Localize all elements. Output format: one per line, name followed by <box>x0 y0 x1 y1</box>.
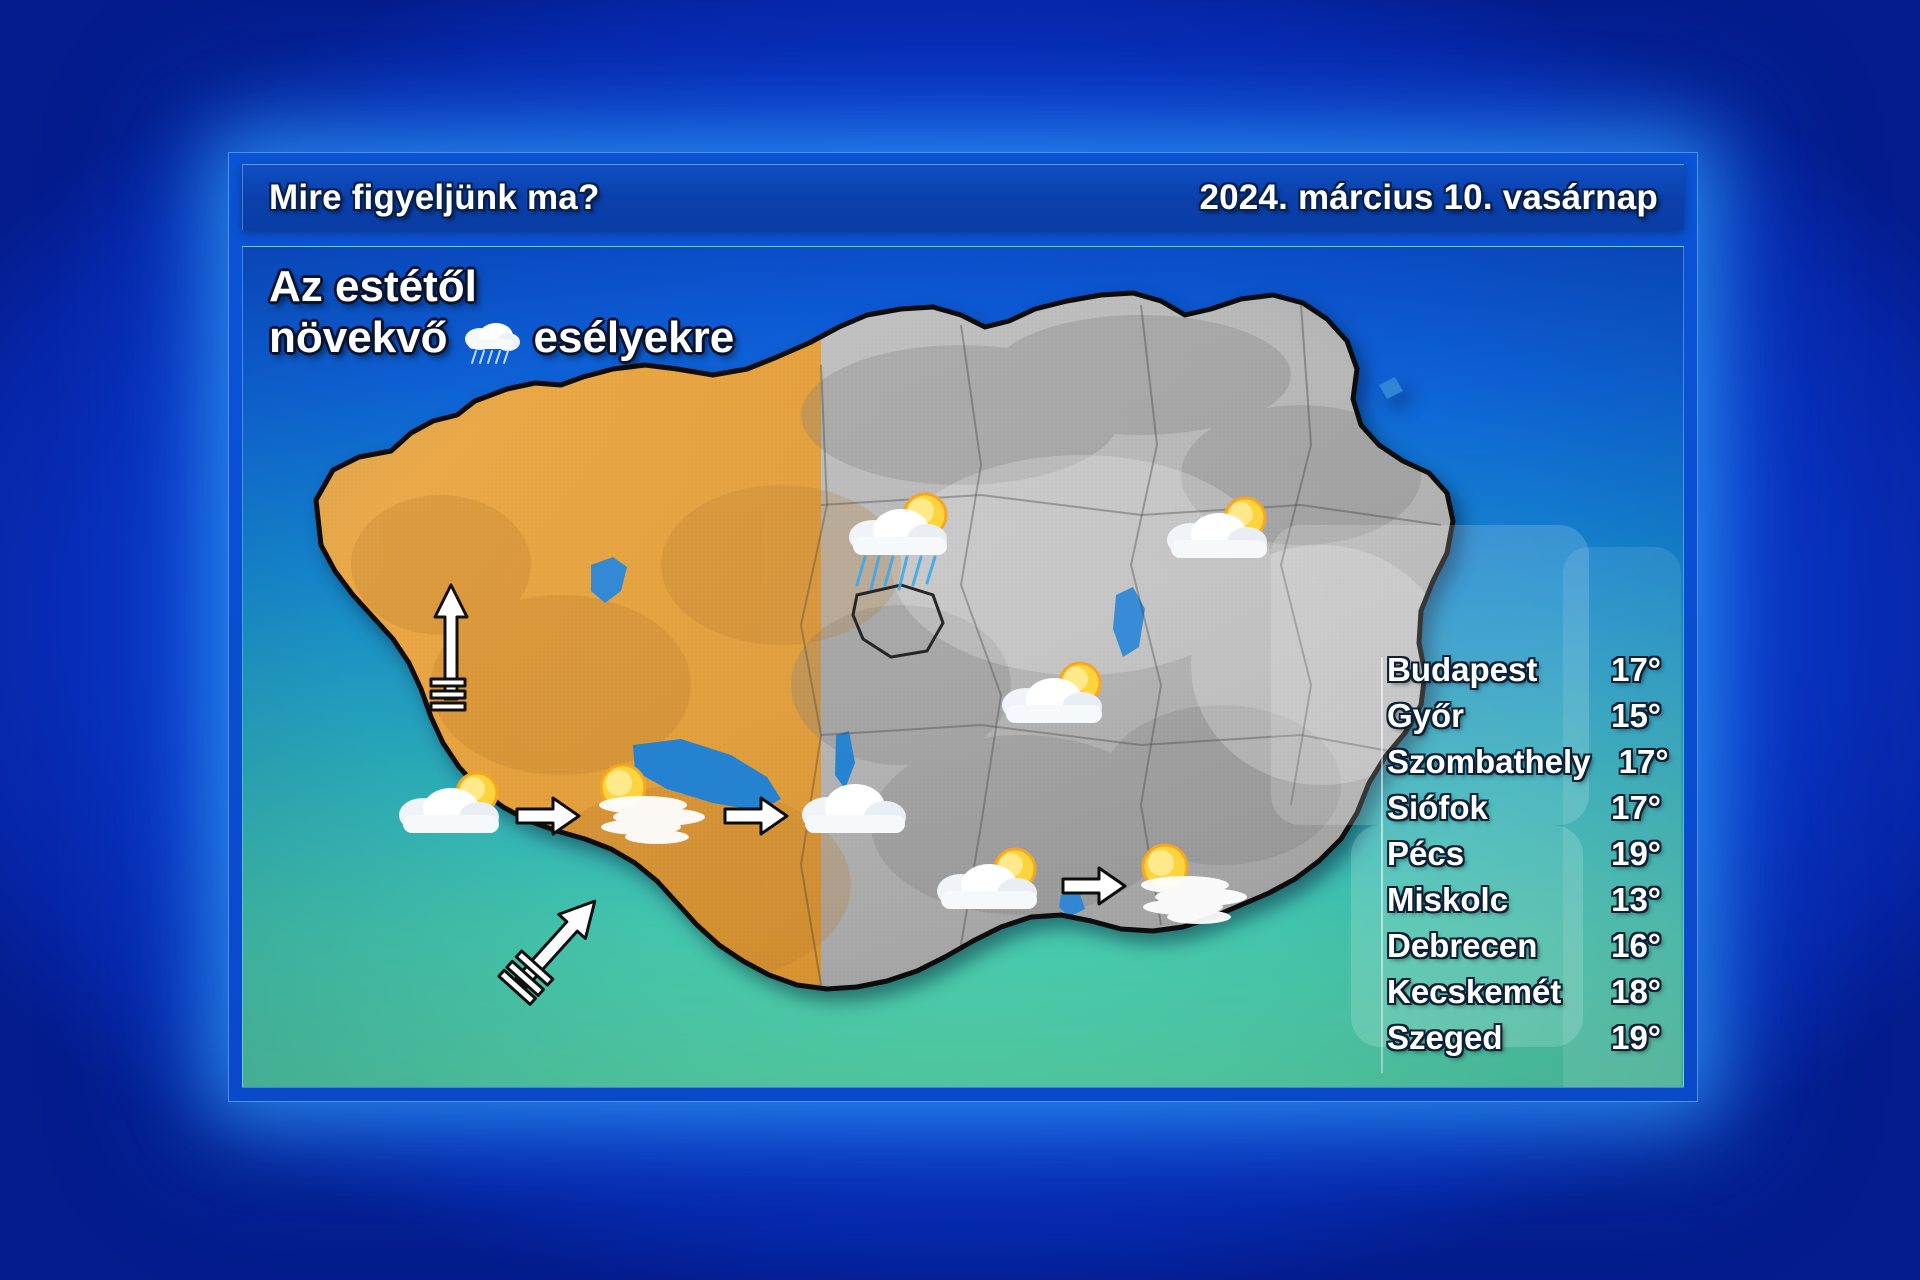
headline-line-1: Az estétől <box>269 261 734 312</box>
temperature-value: 17° <box>1591 743 1669 781</box>
headline-text-1: Az estétől <box>269 261 477 312</box>
temperature-value: 19° <box>1583 835 1661 873</box>
headline-line-2: növekvő esélyekre <box>269 312 734 363</box>
headline-text-2a: növekvő <box>269 312 448 363</box>
sun-cloud-rain-icon <box>843 485 968 600</box>
temperature-value: 17° <box>1583 651 1661 689</box>
map-stage: Az estétől növekvő <box>242 246 1684 1088</box>
table-row: Siófok 17° <box>1387 789 1661 835</box>
rain-cloud-icon <box>460 319 522 365</box>
city-label: Miskolc <box>1387 881 1508 919</box>
table-row: Pécs 19° <box>1387 835 1661 881</box>
headline-text-2b: esélyekre <box>534 312 735 363</box>
table-row: Győr 15° <box>1387 697 1661 743</box>
wind-barb-icon-south <box>493 877 623 1012</box>
table-row: Debrecen 16° <box>1387 927 1661 973</box>
temperature-value: 15° <box>1583 697 1661 735</box>
temperature-value: 18° <box>1583 973 1661 1011</box>
temperature-list: Budapest 17° Győr 15° Szombathely 17° Si… <box>1373 641 1675 1077</box>
temperature-value: 17° <box>1583 789 1661 827</box>
arrow-icon-2 <box>723 795 789 842</box>
city-label: Szombathely <box>1387 743 1591 781</box>
cloud-icon-center <box>799 775 909 844</box>
arrow-icon-1 <box>515 795 581 842</box>
table-row: Miskolc 13° <box>1387 881 1661 927</box>
city-label: Szeged <box>1387 1019 1503 1057</box>
city-label: Siófok <box>1387 789 1488 827</box>
temperature-value: 19° <box>1583 1019 1661 1057</box>
date-label: 2024. március 10. vasárnap <box>1199 178 1658 218</box>
headline: Az estétől növekvő <box>269 261 734 364</box>
arrow-icon-3 <box>1061 865 1127 912</box>
sun-cloud-icon-mideast <box>998 657 1116 740</box>
header-bar: Mire figyeljünk ma? 2024. március 10. va… <box>242 164 1684 230</box>
city-label: Pécs <box>1387 835 1464 873</box>
table-row: Szeged 19° <box>1387 1019 1661 1065</box>
city-label: Budapest <box>1387 651 1537 689</box>
sun-cloud-icon-northeast <box>1163 492 1281 575</box>
sun-cloud-icon-west <box>395 767 513 850</box>
city-label: Győr <box>1387 697 1464 735</box>
city-label: Kecskemét <box>1387 973 1561 1011</box>
wind-barb-icon-north <box>423 583 479 728</box>
table-row: Budapest 17° <box>1387 651 1661 697</box>
table-row: Szombathely 17° <box>1387 743 1661 789</box>
sun-fog-icon-center <box>579 759 711 854</box>
page-title: Mire figyeljünk ma? <box>269 178 600 218</box>
temperature-value: 13° <box>1583 881 1661 919</box>
sun-cloud-icon-south <box>933 843 1051 926</box>
table-row: Kecskemét 18° <box>1387 973 1661 1019</box>
city-label: Debrecen <box>1387 927 1537 965</box>
temperature-value: 16° <box>1583 927 1661 965</box>
sun-fog-icon-south <box>1121 839 1253 934</box>
